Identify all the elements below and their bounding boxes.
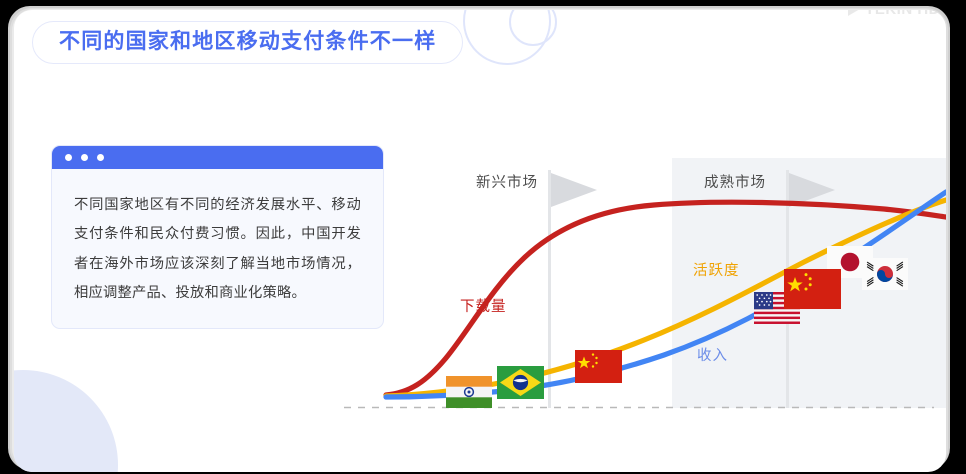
flagpole-mature-market bbox=[786, 170, 835, 408]
window-dot-close-icon bbox=[65, 154, 72, 161]
note-card-text: 不同国家地区有不同的经济发展水平、移动支付条件和民众付费习惯。因此，中国开发者在… bbox=[74, 191, 361, 308]
play-triangle-icon bbox=[848, 10, 860, 16]
decorative-corner-blob bbox=[14, 370, 118, 472]
note-card-body: 不同国家地区有不同的经济发展水平、移动支付条件和民众付费习惯。因此，中国开发者在… bbox=[52, 169, 383, 328]
decorative-circle-large bbox=[463, 10, 551, 65]
series-label-revenue: 收入 bbox=[697, 344, 728, 365]
mature-market-zone bbox=[672, 158, 946, 408]
japan-flag bbox=[827, 246, 873, 278]
series-label-downloads: 下载量 bbox=[460, 295, 507, 316]
series-label-activity: 活跃度 bbox=[693, 259, 740, 280]
window-dot-minimize-icon bbox=[81, 154, 88, 161]
brazil-flag bbox=[497, 366, 544, 399]
china-flag-emerging bbox=[575, 350, 622, 383]
india-flag bbox=[446, 376, 492, 408]
usa-flag bbox=[754, 292, 800, 324]
note-card-titlebar bbox=[52, 146, 383, 169]
window-dot-maximize-icon bbox=[97, 154, 104, 161]
decorative-circle-small bbox=[509, 10, 557, 46]
zone-label-mature-market: 成熟市场 bbox=[704, 171, 766, 192]
south-korea-flag bbox=[862, 258, 908, 290]
zone-label-emerging-market: 新兴市场 bbox=[476, 171, 538, 192]
page-title: 不同的国家和地区移动支付条件不一样 bbox=[32, 21, 463, 64]
note-card: 不同国家地区有不同的经济发展水平、移动支付条件和民众付费习惯。因此，中国开发者在… bbox=[51, 145, 384, 329]
slide-root: TEKIN HD 不同的国家和地区移动支付条件不一样 bbox=[0, 0, 966, 474]
watermark-text: TEKIN HD bbox=[865, 10, 940, 18]
watermark: TEKIN HD bbox=[848, 10, 940, 20]
flagpole-emerging-market bbox=[548, 170, 597, 408]
china-flag-mature bbox=[784, 269, 841, 309]
slide-card: TEKIN HD 不同的国家和地区移动支付条件不一样 bbox=[14, 10, 946, 472]
